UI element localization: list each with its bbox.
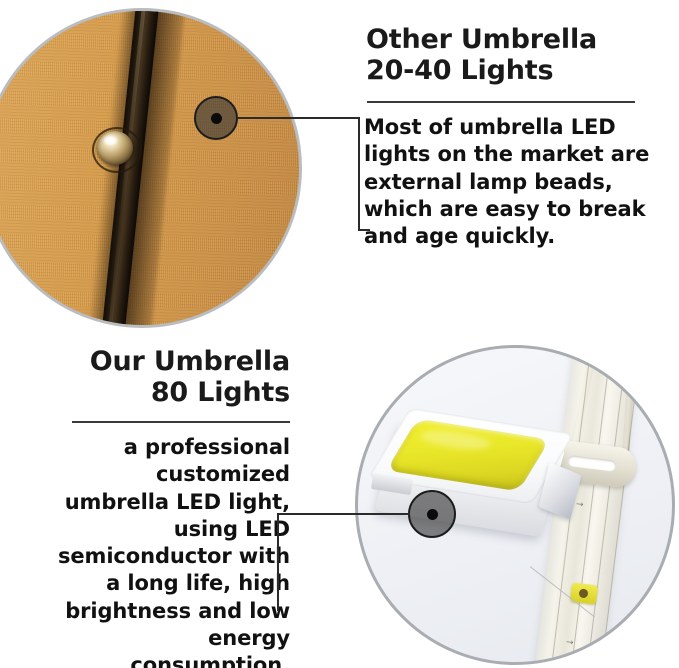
infographic-canvas: Other Umbrella 20-40 Lights Most of umbr…: [0, 0, 679, 668]
divider-rule-ours: [72, 421, 290, 423]
umbrella-canopy-external-lamp-bead-photo: [0, 8, 302, 328]
body-text-other-umbrella: Most of umbrella LED lights on the marke…: [364, 114, 676, 250]
lamp-bead-outline: [92, 127, 142, 173]
callout-target-other: [194, 96, 238, 140]
headline-ours-line2: 80 Lights: [60, 377, 290, 408]
headline-other-line2: 20-40 Lights: [366, 55, 666, 86]
headline-our-umbrella: Our Umbrella 80 Lights: [60, 346, 290, 409]
headline-other-umbrella: Other Umbrella 20-40 Lights: [366, 24, 666, 87]
headline-other-line1: Other Umbrella: [366, 24, 666, 55]
connector-bracket-other-vertical: [358, 117, 360, 230]
divider-rule-other: [367, 101, 635, 103]
headline-ours-line1: Our Umbrella: [60, 346, 290, 377]
connector-line-other-horizontal: [238, 117, 359, 119]
led-bar-marking-upper: →: [575, 500, 584, 511]
body-text-our-umbrella: a professional customized umbrella LED l…: [46, 434, 290, 668]
led-bar-marking-lower: →: [565, 638, 574, 649]
smd-led-chip-light-bar-photo: → →: [355, 345, 675, 665]
connector-bracket-ours-vertical: [277, 513, 279, 611]
connector-line-ours-horizontal: [277, 513, 410, 515]
callout-target-ours: [408, 490, 456, 538]
